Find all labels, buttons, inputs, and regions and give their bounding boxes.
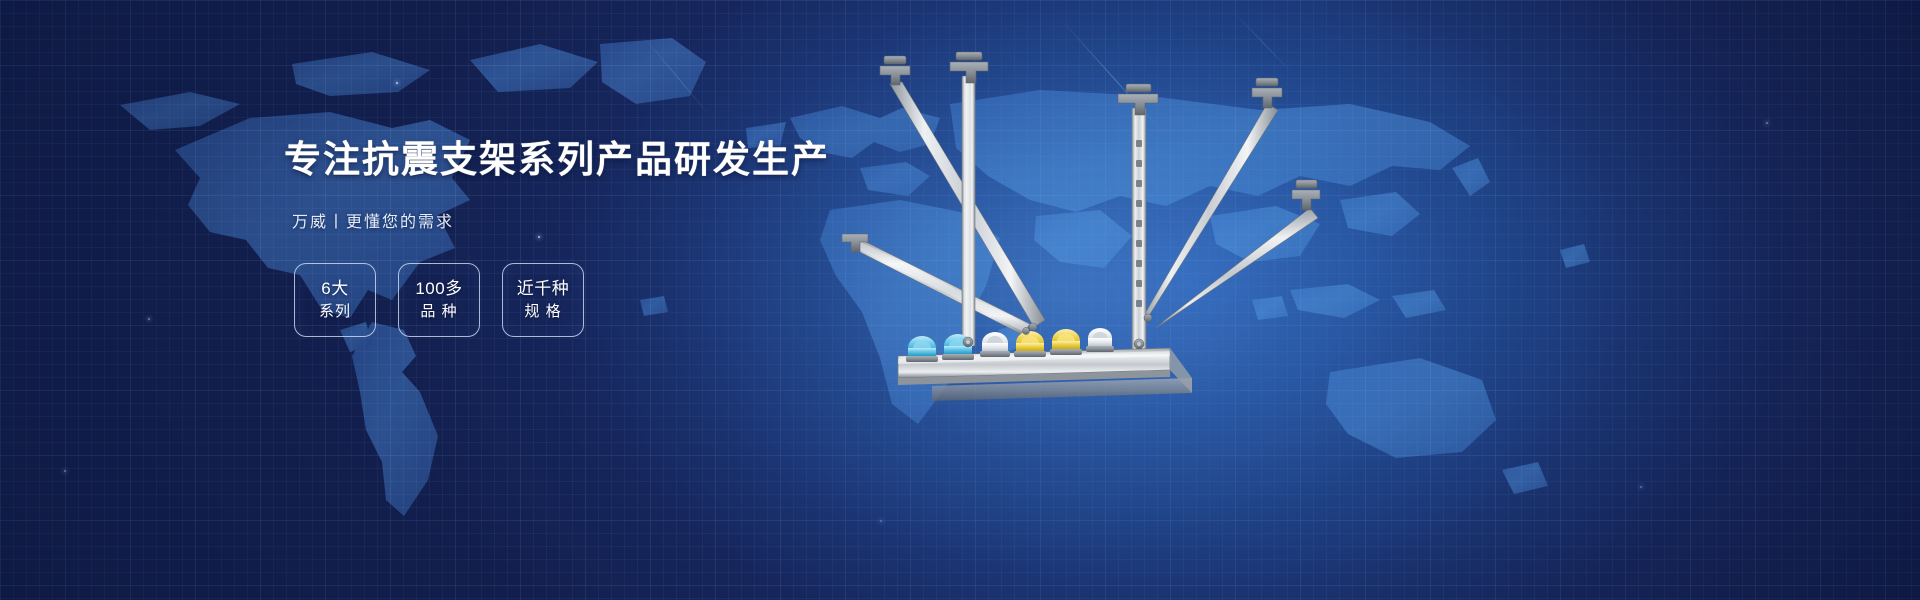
- product-image: [840, 48, 1340, 418]
- hero-copy: 专注抗震支架系列产品研发生产 万威丨更懂您的需求: [284, 138, 804, 232]
- feature-badge-specs[interactable]: 近千种 规 格: [502, 263, 584, 337]
- hero-subtitle: 万威丨更懂您的需求: [292, 208, 804, 232]
- feature-badge-group: 6大 系列 100多 品 种 近千种 规 格: [294, 263, 584, 337]
- feature-badge-series[interactable]: 6大 系列: [294, 263, 376, 337]
- sparkle-dot: [880, 520, 882, 522]
- sparkle-dot: [396, 82, 398, 84]
- badge-line-secondary: 系列: [319, 301, 351, 322]
- sparkle-dot: [1640, 486, 1642, 488]
- feature-badge-varieties[interactable]: 100多 品 种: [398, 263, 480, 337]
- sparkle-dot: [1766, 122, 1768, 124]
- badge-line-primary: 近千种: [517, 278, 570, 301]
- page-title: 专注抗震支架系列产品研发生产: [284, 138, 804, 182]
- badge-line-secondary: 品 种: [420, 301, 457, 322]
- badge-line-primary: 6大: [321, 278, 348, 301]
- badge-line-primary: 100多: [415, 278, 462, 301]
- sparkle-dot: [538, 236, 540, 238]
- sparkle-dot: [64, 470, 66, 472]
- sparkle-dot: [148, 318, 150, 320]
- badge-line-secondary: 规 格: [524, 301, 561, 322]
- hero-banner: 专注抗震支架系列产品研发生产 万威丨更懂您的需求 6大 系列 100多 品 种 …: [0, 0, 1920, 600]
